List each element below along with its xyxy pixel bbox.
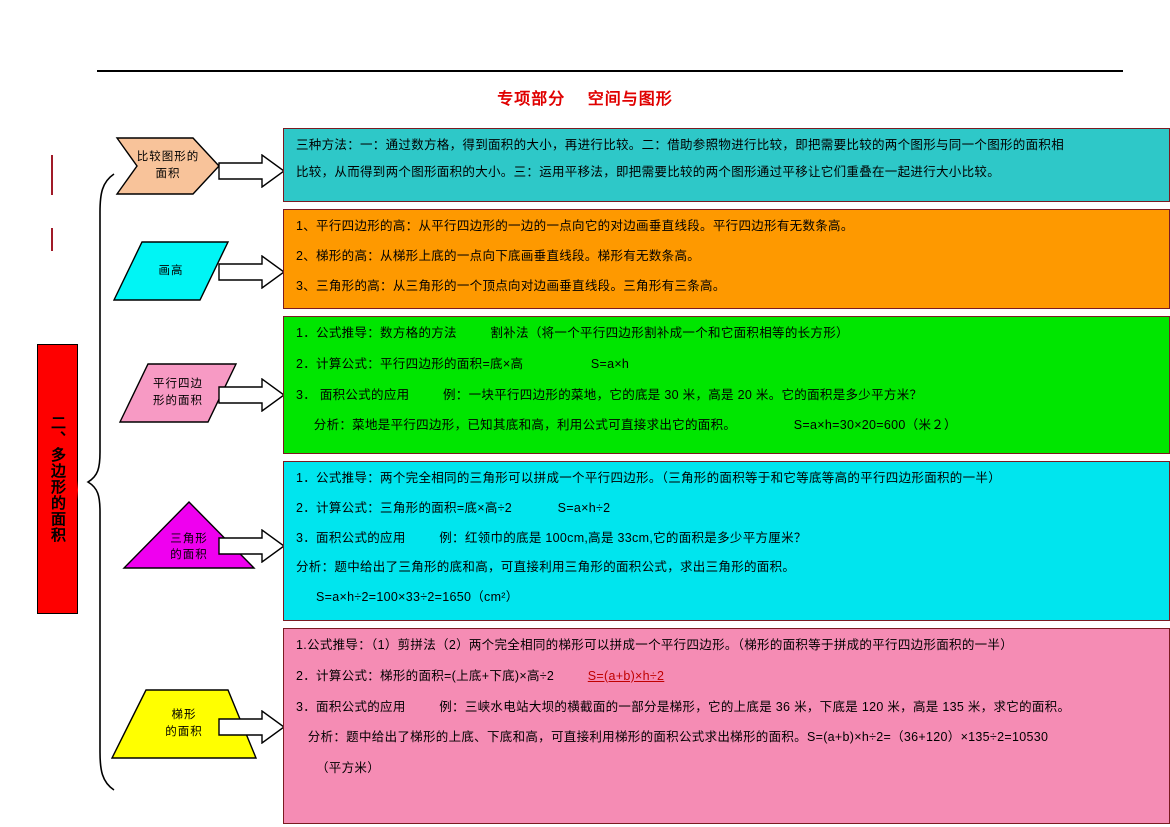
shape-label-line1: 梯形 (165, 707, 203, 724)
shape-label-line1: 比较图形的 (137, 149, 200, 166)
triangle-line4: 分析：题中给出了三角形的底和高，可直接利用三角形的面积公式，求出三角形的面积。 (296, 558, 1159, 577)
block-arrow-right-icon (218, 154, 286, 188)
worksheet-page: 专项部分 空间与图形 二、多边形的面积 比较图形的 面积 画高 (0, 0, 1170, 827)
shape-label-line2: 面积 (137, 166, 200, 183)
trapezoid-line4: 分析：题中给出了梯形的上底、下底和高，可直接利用梯形的面积公式求出梯形的面积。S… (296, 728, 1159, 747)
triangle-line2b: S=a×h÷2 (558, 501, 611, 515)
parallelogram-line1b: 割补法（将一个平行四边形割补成一个和它面积相等的长方形） (490, 326, 848, 340)
trapezoid-line2a: 2．计算公式：梯形的面积=(上底+下底)×高÷2 (296, 669, 554, 683)
block-arrow-right-icon (218, 255, 286, 289)
chapter-label: 二、多边形的面积 (37, 344, 78, 614)
parallelogram-line4: 分析：菜地是平行四边形，已知其底和高，利用公式可直接求出它的面积。 S=a×h=… (296, 416, 1159, 435)
page-title: 专项部分 空间与图形 (0, 85, 1170, 109)
triangle-line5: S=a×h÷2=100×33÷2=1650（cm²） (296, 588, 1159, 607)
parallelogram-line3a: 3． 面积公式的应用 (296, 388, 409, 402)
block-arrow-right-icon (218, 378, 286, 412)
shape-label-line1: 画高 (159, 263, 184, 280)
tick-mark-upper (51, 155, 53, 195)
arrow-to-compare-box (218, 154, 286, 188)
trapezoid-line1: 1.公式推导：（1）剪拼法（2）两个完全相同的梯形可以拼成一个平行四边形。（梯形… (296, 636, 1159, 655)
content-box-parallelogram: 1．公式推导：数方格的方法 割补法（将一个平行四边形割补成一个和它面积相等的长方… (283, 316, 1170, 454)
parallelogram-line2: 2．计算公式：平行四边形的面积=底×高 S=a×h (296, 355, 1159, 374)
height-line2: 2、梯形的高：从梯形上底的一点向下底画垂直线段。梯形有无数条高。 (296, 247, 1159, 266)
parallelogram-line1: 1．公式推导：数方格的方法 割补法（将一个平行四边形割补成一个和它面积相等的长方… (296, 324, 1159, 343)
shape-label-line2: 形的面积 (153, 393, 203, 410)
trapezoid-line3: 3．面积公式的应用 例：三峡水电站大坝的横截面的一部分是梯形，它的上底是 36 … (296, 698, 1159, 717)
compare-line2: 比较，从而得到两个图形面积的大小。三：运用平移法，即把需要比较的两个图形通过平移… (296, 163, 1159, 182)
tick-mark-lower (51, 228, 53, 251)
block-arrow-right-icon (218, 529, 286, 563)
triangle-line3: 3．面积公式的应用 例：红领巾的底是 100cm,高是 33cm,它的面积是多少… (296, 529, 1159, 548)
content-box-height: 1、平行四边形的高：从平行四边形的一边的一点向它的对边画垂直线段。平行四边形有无… (283, 209, 1170, 309)
parallelogram-line3b: 例：一块平行四边形的菜地，它的底是 30 米，高是 20 米。它的面积是多少平方… (443, 388, 922, 402)
trapezoid-line3a: 3．面积公式的应用 (296, 700, 406, 714)
shape-draw-height[interactable]: 画高 (112, 240, 230, 302)
triangle-line3a: 3．面积公式的应用 (296, 531, 406, 545)
trapezoid-line5-text: （平方米） (296, 759, 380, 778)
triangle-line2: 2．计算公式：三角形的面积=底×高÷2 S=a×h÷2 (296, 499, 1159, 518)
arrow-to-height-box (218, 255, 286, 289)
arrow-to-trapezoid-box (218, 710, 286, 744)
trapezoid-line4-text: 分析：题中给出了梯形的上底、下底和高，可直接利用梯形的面积公式求出梯形的面积。S… (308, 730, 1048, 744)
triangle-line5-text: S=a×h÷2=100×33÷2=1650（cm²） (296, 588, 519, 607)
triangle-line3b: 例：红领巾的底是 100cm,高是 33cm,它的面积是多少平方厘米？ (439, 531, 806, 545)
header-rule (97, 70, 1123, 72)
parallelogram-line3: 3． 面积公式的应用 例：一块平行四边形的菜地，它的底是 30 米，高是 20 … (296, 386, 1159, 405)
content-box-trapezoid: 1.公式推导：（1）剪拼法（2）两个完全相同的梯形可以拼成一个平行四边形。（梯形… (283, 628, 1170, 824)
height-line3: 3、三角形的高：从三角形的一个顶点向对边画垂直线段。三角形有三条高。 (296, 277, 1159, 296)
triangle-line2a: 2．计算公式：三角形的面积=底×高÷2 (296, 501, 512, 515)
trapezoid-line3b: 例：三峡水电站大坝的横截面的一部分是梯形，它的上底是 36 米，下底是 120 … (439, 700, 1070, 714)
shape-label-line2: 的面积 (165, 724, 203, 741)
trapezoid-line5: （平方米） (296, 759, 1159, 778)
shape-label-line1: 平行四边 (153, 376, 203, 393)
parallelogram-line4b: S=a×h=30×20=600（米２） (794, 418, 957, 432)
content-box-compare: 三种方法：一：通过数方格，得到面积的大小，再进行比较。二：借助参照物进行比较，即… (283, 128, 1170, 202)
content-box-triangle: 1．公式推导：两个完全相同的三角形可以拼成一个平行四边形。（三角形的面积等于和它… (283, 461, 1170, 621)
parallelogram-line2b: S=a×h (591, 357, 629, 371)
trapezoid-line2: 2．计算公式：梯形的面积=(上底+下底)×高÷2 S=(a+b)×h÷2 (296, 667, 1159, 686)
shape-label-line2: 的面积 (170, 547, 208, 564)
parallelogram-line1a: 1．公式推导：数方格的方法 (296, 326, 457, 340)
compare-line1: 三种方法：一：通过数方格，得到面积的大小，再进行比较。二：借助参照物进行比较，即… (296, 136, 1159, 155)
parallelogram-line2a: 2．计算公式：平行四边形的面积=底×高 (296, 357, 523, 371)
block-arrow-right-icon (218, 710, 286, 744)
triangle-line1: 1．公式推导：两个完全相同的三角形可以拼成一个平行四边形。（三角形的面积等于和它… (296, 469, 1159, 488)
parallelogram-line4a: 分析：菜地是平行四边形，已知其底和高，利用公式可直接求出它的面积。 (314, 418, 736, 432)
trapezoid-formula: S=(a+b)×h÷2 (588, 669, 665, 683)
arrow-to-parallelogram-box (218, 378, 286, 412)
height-line1: 1、平行四边形的高：从平行四边形的一边的一点向它的对边画垂直线段。平行四边形有无… (296, 217, 1159, 236)
shape-compare-area[interactable]: 比较图形的 面积 (115, 136, 221, 196)
arrow-to-triangle-box (218, 529, 286, 563)
shape-label-line1: 三角形 (170, 531, 208, 548)
